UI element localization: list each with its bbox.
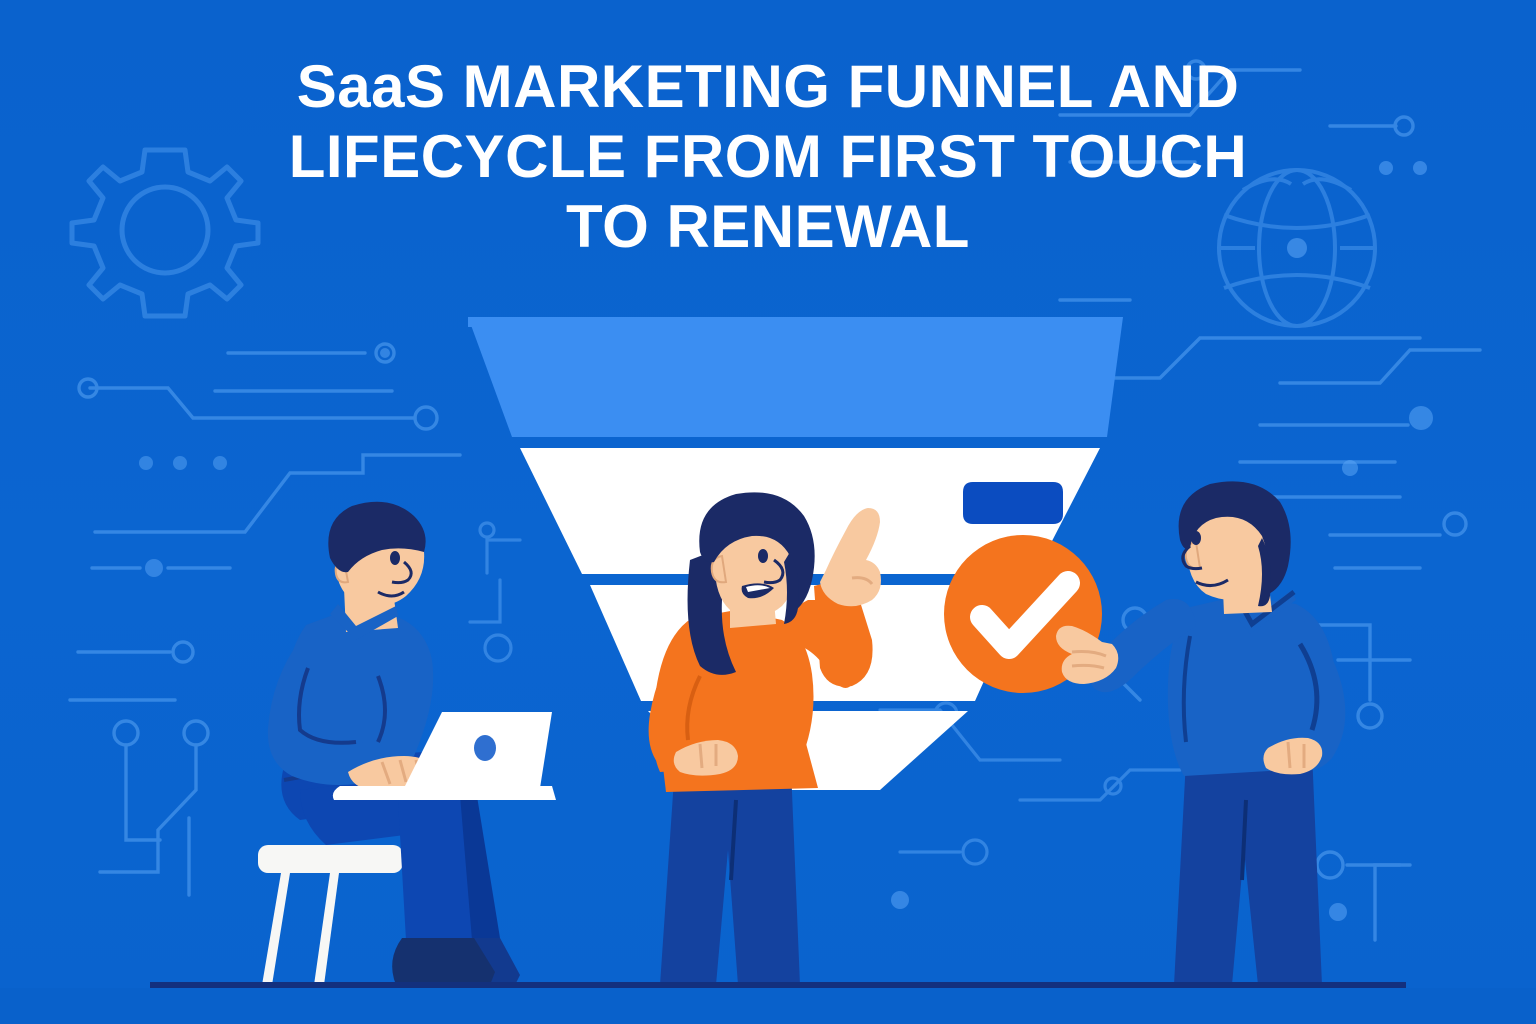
laptop-logo <box>474 735 496 761</box>
laptop-base <box>333 786 556 800</box>
man-laptop-eye <box>390 551 400 565</box>
globe-center-dot <box>1287 238 1307 258</box>
illustration-canvas <box>0 0 1536 1024</box>
funnel-band-1 <box>468 317 1123 437</box>
man-laptop-shin <box>398 795 472 940</box>
woman-eye <box>758 549 768 563</box>
floor-shade <box>0 988 1536 1024</box>
badge-backdrop-chip <box>963 482 1063 524</box>
funnel-band-1-radius-patch <box>468 317 478 327</box>
stool-seat <box>258 845 403 873</box>
right-man-eye <box>1191 531 1201 545</box>
illustration-banner: SaaS MARKETING FUNNEL AND LIFECYCLE FROM… <box>0 0 1536 1024</box>
